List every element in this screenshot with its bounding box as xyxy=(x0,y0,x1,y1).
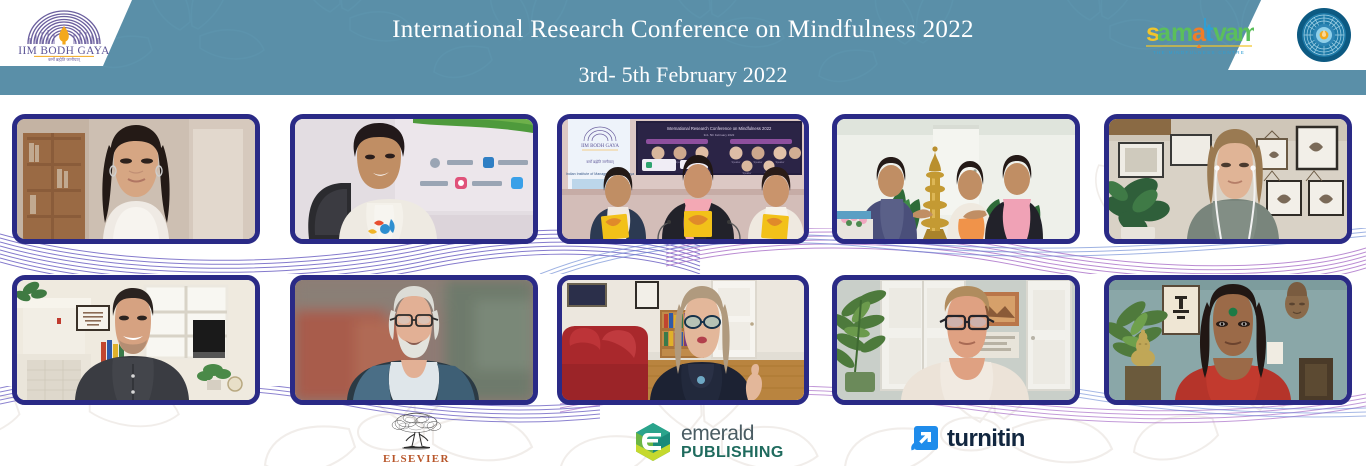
video-tile-5[interactable] xyxy=(1104,114,1352,244)
svg-text:a: a xyxy=(1157,19,1172,47)
video-tile-6[interactable] xyxy=(12,275,260,405)
turnitin-label: turnitin xyxy=(947,425,1025,453)
elsevier-tree-mark xyxy=(385,412,447,452)
svg-text:IIM BODH GAYA: IIM BODH GAYA xyxy=(18,45,110,57)
svg-text:कर्मो ब्रह्मेति जानीयात्: कर्मो ब्रह्मेति जानीयात् xyxy=(586,159,614,164)
samatvam-logo: s a m a t v a m THE MINDFULNESS CENTRE xyxy=(1144,14,1254,58)
emerald-publishing-logo: emerald PUBLISHING xyxy=(634,422,784,462)
turnitin-arrow-mark xyxy=(910,425,938,453)
svg-text:Speaker: Speaker xyxy=(732,161,741,164)
mandala-emblem-logo xyxy=(1296,7,1352,63)
emerald-label-line2: PUBLISHING xyxy=(681,445,784,461)
svg-text:m: m xyxy=(1171,19,1193,47)
video-tile-2[interactable] xyxy=(290,114,538,244)
iim-bodh-gaya-logo: IIM BODH GAYA कर्मो ब्रह्मेति जानीयात् xyxy=(12,2,116,62)
emerald-hex-e-mark xyxy=(634,422,672,462)
svg-text:Speaker: Speaker xyxy=(754,161,763,164)
svg-text:Speaker: Speaker xyxy=(776,161,785,164)
video-tile-1[interactable] xyxy=(12,114,260,244)
conference-dates: 3rd- 5th February 2022 xyxy=(0,62,1366,88)
svg-text:IIM BODH GAYA: IIM BODH GAYA xyxy=(581,144,619,149)
svg-text:Speaker: Speaker xyxy=(743,172,752,175)
svg-text:कर्मो ब्रह्मेति जानीयात्: कर्मो ब्रह्मेति जानीयात् xyxy=(48,57,81,62)
page-header: IIM BODH GAYA कर्मो ब्रह्मेति जानीयात् I… xyxy=(0,0,1366,95)
video-tile-4[interactable] xyxy=(832,114,1080,244)
emerald-label-line1: emerald xyxy=(681,423,784,444)
svg-text:International Research Confere: International Research Conference on Min… xyxy=(667,126,772,131)
svg-text:m: m xyxy=(1237,19,1254,47)
conference-collage-page: IIM BODH GAYA कर्मो ब्रह्मेति जानीयात् I… xyxy=(0,0,1366,466)
svg-text:THE MINDFULNESS CENTRE: THE MINDFULNESS CENTRE xyxy=(1153,50,1245,55)
turnitin-logo: turnitin xyxy=(910,425,1025,453)
video-tile-8[interactable] xyxy=(557,275,809,405)
video-tile-3[interactable]: IIM BODH GAYA कर्मो ब्रह्मेति जानीयात् I… xyxy=(557,114,809,244)
svg-text:3rd- 5th February 2022: 3rd- 5th February 2022 xyxy=(704,133,735,137)
video-tile-9[interactable] xyxy=(832,275,1080,405)
elsevier-label: ELSEVIER xyxy=(383,453,450,465)
video-tile-7[interactable] xyxy=(290,275,538,405)
elsevier-logo: ELSEVIER xyxy=(383,412,450,465)
sponsor-logo-row: ELSEVIER emerald PUBLISHING turnitin xyxy=(0,410,1366,466)
video-tile-10[interactable] xyxy=(1104,275,1352,405)
